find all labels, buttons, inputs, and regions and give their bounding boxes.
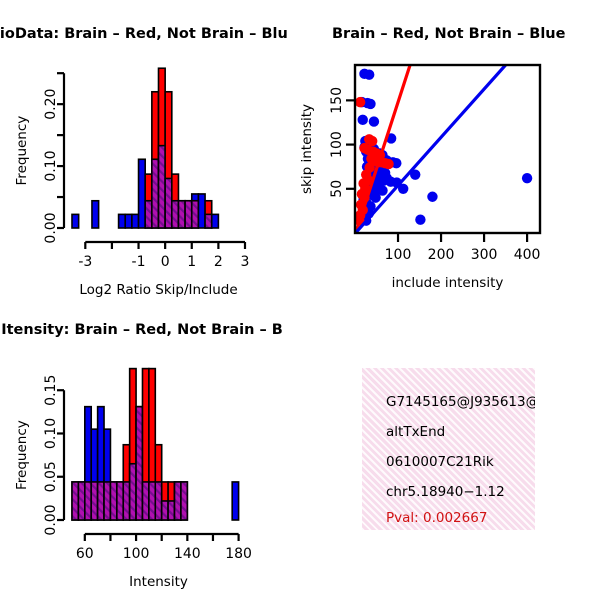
intensity-histogram-title: ne Itensity: Brain – Red, Not Brain – B [0,322,283,338]
svg-text:100: 100 [329,131,345,158]
info-line-pval: Pval: 0.002667 [386,510,487,526]
intensity-histogram-plot: 0.000.050.100.1560100140180IntensityFreq… [0,352,300,600]
scatter-title: Brain – Red, Not Brain – Blue [332,26,565,42]
svg-text:2: 2 [214,254,223,270]
info-line-id: G7145165@J935613@j_ [386,394,535,410]
ratio-histogram-plot: 0.000.100.20-3-10123Log2 Ratio Skip/Incl… [0,55,300,310]
svg-text:100: 100 [385,247,412,263]
svg-text:0.15: 0.15 [43,375,59,406]
info-line-locus: chr5.18940−1.12 [386,484,505,500]
svg-text:skip intensity: skip intensity [299,104,315,194]
svg-text:include intensity: include intensity [392,275,504,291]
ratio-histogram-title: RatioData: Brain – Red, Not Brain – Blu [0,26,288,42]
svg-text:0.10: 0.10 [43,150,59,181]
svg-text:0.00: 0.00 [43,212,59,243]
svg-text:150: 150 [329,87,345,114]
svg-text:0.00: 0.00 [43,504,59,535]
svg-text:-1: -1 [132,254,146,270]
svg-text:50: 50 [329,180,345,198]
svg-text:100: 100 [123,546,150,562]
intensity-histogram-panel: 0.000.050.100.1560100140180IntensityFreq… [0,352,300,600]
svg-text:300: 300 [471,247,498,263]
svg-text:400: 400 [514,247,541,263]
svg-text:140: 140 [174,546,201,562]
svg-text:0.05: 0.05 [43,461,59,492]
ratio-histogram-panel: 0.000.100.20-3-10123Log2 Ratio Skip/Incl… [0,55,300,310]
info-line-event: altTxEnd [386,424,445,440]
svg-text:0.20: 0.20 [43,89,59,120]
svg-text:180: 180 [225,546,252,562]
svg-text:Frequency: Frequency [14,420,30,490]
svg-text:Frequency: Frequency [14,116,30,186]
svg-text:3: 3 [241,254,250,270]
svg-text:-3: -3 [78,254,92,270]
svg-text:0: 0 [161,254,170,270]
info-line-gene: 0610007C21Rik [386,454,494,470]
svg-text:Intensity: Intensity [129,574,188,590]
svg-text:200: 200 [428,247,455,263]
svg-text:Log2 Ratio Skip/Include: Log2 Ratio Skip/Include [79,282,237,298]
scatter-plot: 50100150100200300400include intensityski… [300,55,600,310]
gene-info-box: G7145165@J935613@j_ altTxEnd 0610007C21R… [362,368,535,530]
svg-text:1: 1 [187,254,196,270]
svg-text:60: 60 [76,546,94,562]
scatter-panel: 50100150100200300400include intensityski… [300,55,600,310]
svg-text:0.10: 0.10 [43,418,59,449]
